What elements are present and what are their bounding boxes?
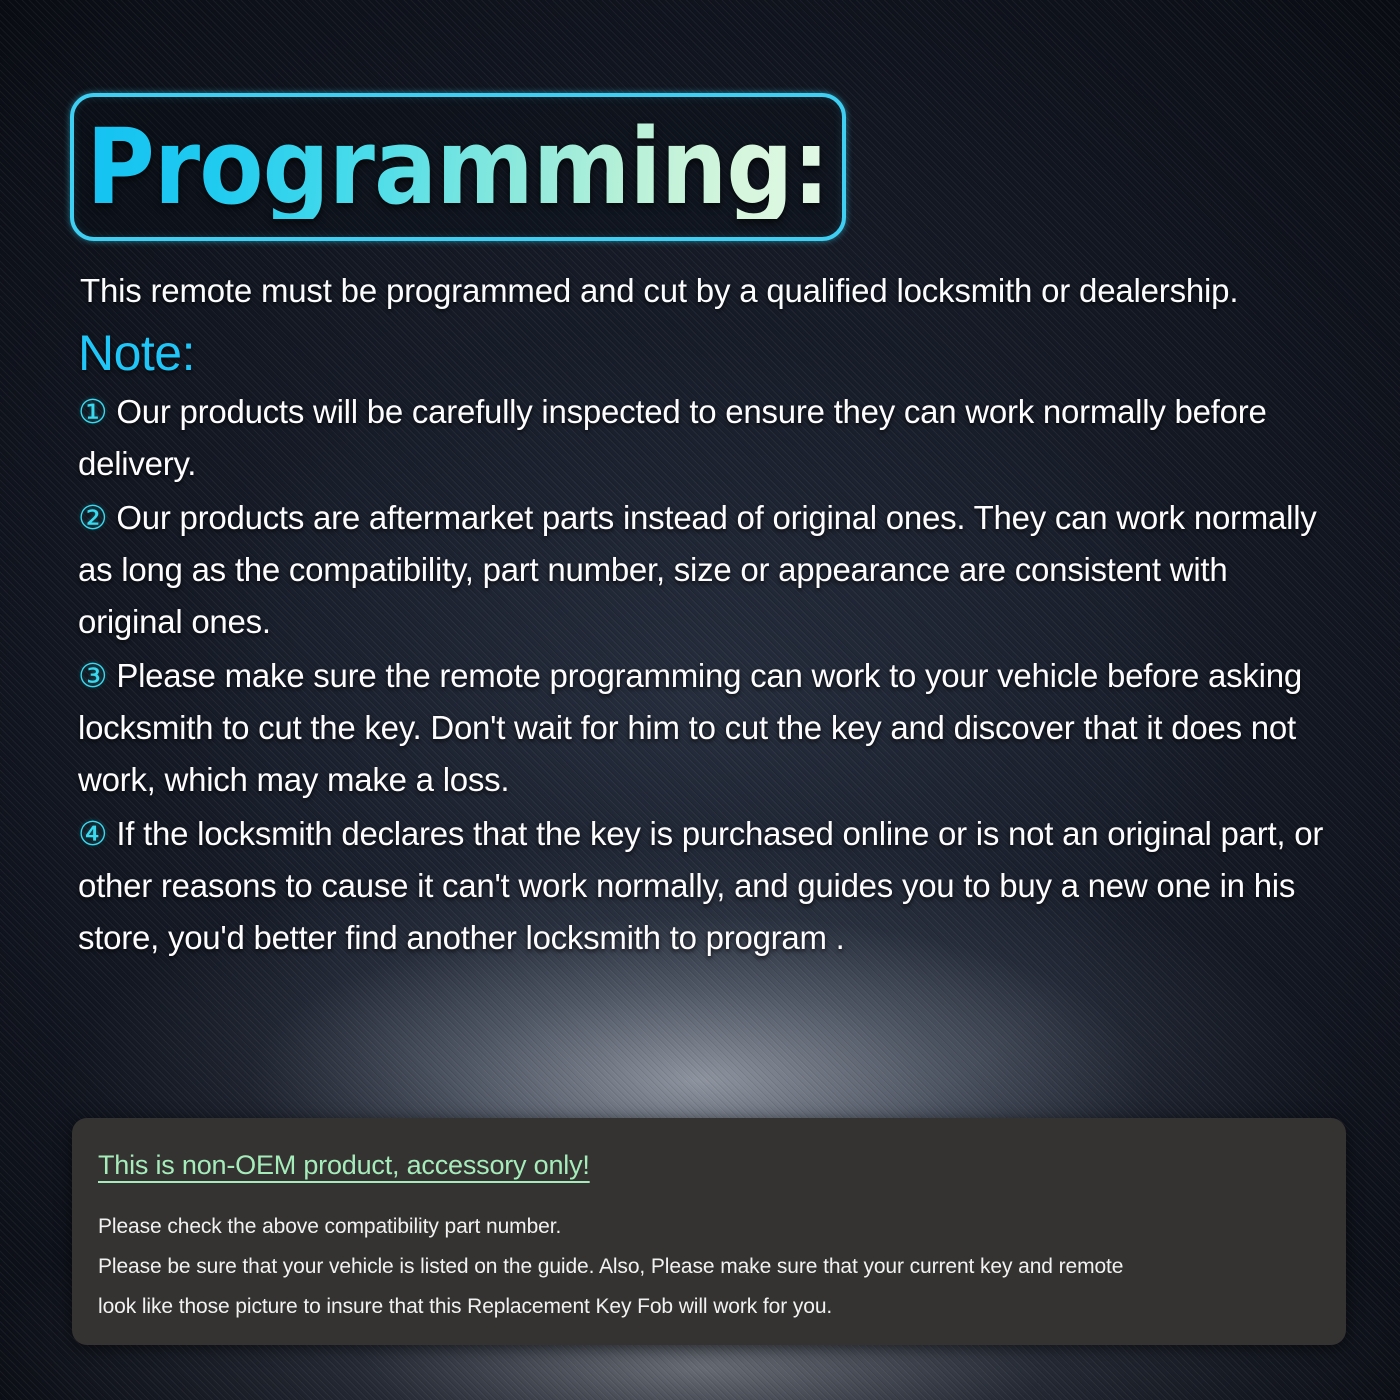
note-item-text: Please make sure the remote programming … xyxy=(78,657,1302,798)
non-oem-panel-line: Please be sure that your vehicle is list… xyxy=(98,1247,1320,1287)
non-oem-panel-title: This is non-OEM product, accessory only! xyxy=(98,1150,1320,1181)
note-item-text: Our products are aftermarket parts inste… xyxy=(78,499,1317,640)
circled-number-4-icon: ④ xyxy=(78,814,107,853)
circled-number-2-icon: ② xyxy=(78,498,107,537)
note-list: ①Our products will be carefully inspecte… xyxy=(78,386,1338,966)
note-heading: Note: xyxy=(78,324,195,382)
circled-number-1-icon: ① xyxy=(78,392,107,431)
non-oem-panel-line: look like those picture to insure that t… xyxy=(98,1287,1320,1327)
note-item: ①Our products will be carefully inspecte… xyxy=(78,386,1338,490)
page-title: Programming: xyxy=(87,115,830,219)
title-box: Programming: xyxy=(70,93,846,241)
note-item: ②Our products are aftermarket parts inst… xyxy=(78,492,1338,648)
circled-number-3-icon: ③ xyxy=(78,656,107,695)
non-oem-disclaimer-panel: This is non-OEM product, accessory only!… xyxy=(72,1118,1346,1345)
note-item: ③Please make sure the remote programming… xyxy=(78,650,1338,806)
note-item-text: If the locksmith declares that the key i… xyxy=(78,815,1323,956)
note-item: ④If the locksmith declares that the key … xyxy=(78,808,1338,964)
non-oem-panel-line: Please check the above compatibility par… xyxy=(98,1207,1320,1247)
intro-text: This remote must be programmed and cut b… xyxy=(80,272,1360,310)
programming-instructions-page: Programming: This remote must be program… xyxy=(0,0,1400,1400)
note-item-text: Our products will be carefully inspected… xyxy=(78,393,1267,482)
